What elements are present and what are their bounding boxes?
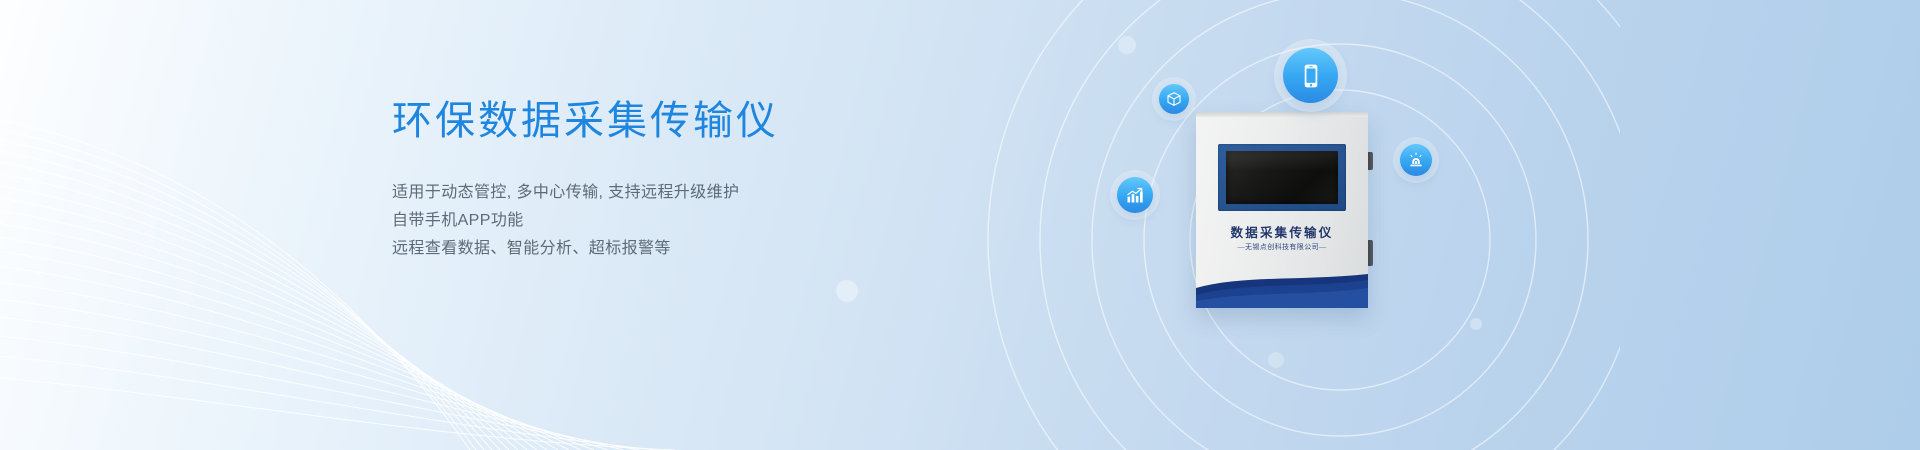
device-enclosure: 数据采集传输仪 —无锡点创科技有限公司— bbox=[1196, 112, 1368, 308]
banner-subtitle-line-2: 自带手机APP功能 bbox=[392, 207, 912, 235]
decorative-bokeh-dot bbox=[1268, 352, 1284, 368]
decorative-bokeh-dot bbox=[836, 280, 858, 302]
device-company-text: —无锡点创科技有限公司— bbox=[1196, 242, 1368, 252]
decorative-bokeh-dot bbox=[1118, 36, 1136, 54]
device-screen bbox=[1226, 151, 1338, 204]
device-label-text: 数据采集传输仪 bbox=[1196, 222, 1368, 241]
cube-icon[interactable] bbox=[1159, 84, 1189, 114]
device-footer-wave bbox=[1196, 274, 1368, 308]
banner-copy: 环保数据采集传输仪 适用于动态管控, 多中心传输, 支持远程升级维护 自带手机A… bbox=[392, 98, 912, 263]
product-hero-banner: 环保数据采集传输仪 适用于动态管控, 多中心传输, 支持远程升级维护 自带手机A… bbox=[0, 0, 1920, 450]
device-top-edge bbox=[1196, 112, 1368, 117]
banner-subtitle-line-3: 远程查看数据、智能分析、超标报警等 bbox=[392, 235, 912, 263]
banner-subtitle-line-1: 适用于动态管控, 多中心传输, 支持远程升级维护 bbox=[392, 179, 912, 207]
decorative-bokeh-dot bbox=[1470, 318, 1482, 330]
bar-chart-icon[interactable] bbox=[1117, 177, 1153, 213]
mobile-phone-icon[interactable] bbox=[1283, 48, 1338, 103]
product-device-image: 数据采集传输仪 —无锡点创科技有限公司— bbox=[1196, 112, 1372, 312]
alarm-siren-icon[interactable] bbox=[1400, 144, 1432, 176]
device-screen-bezel bbox=[1218, 144, 1346, 211]
page-title: 环保数据采集传输仪 bbox=[392, 98, 912, 145]
